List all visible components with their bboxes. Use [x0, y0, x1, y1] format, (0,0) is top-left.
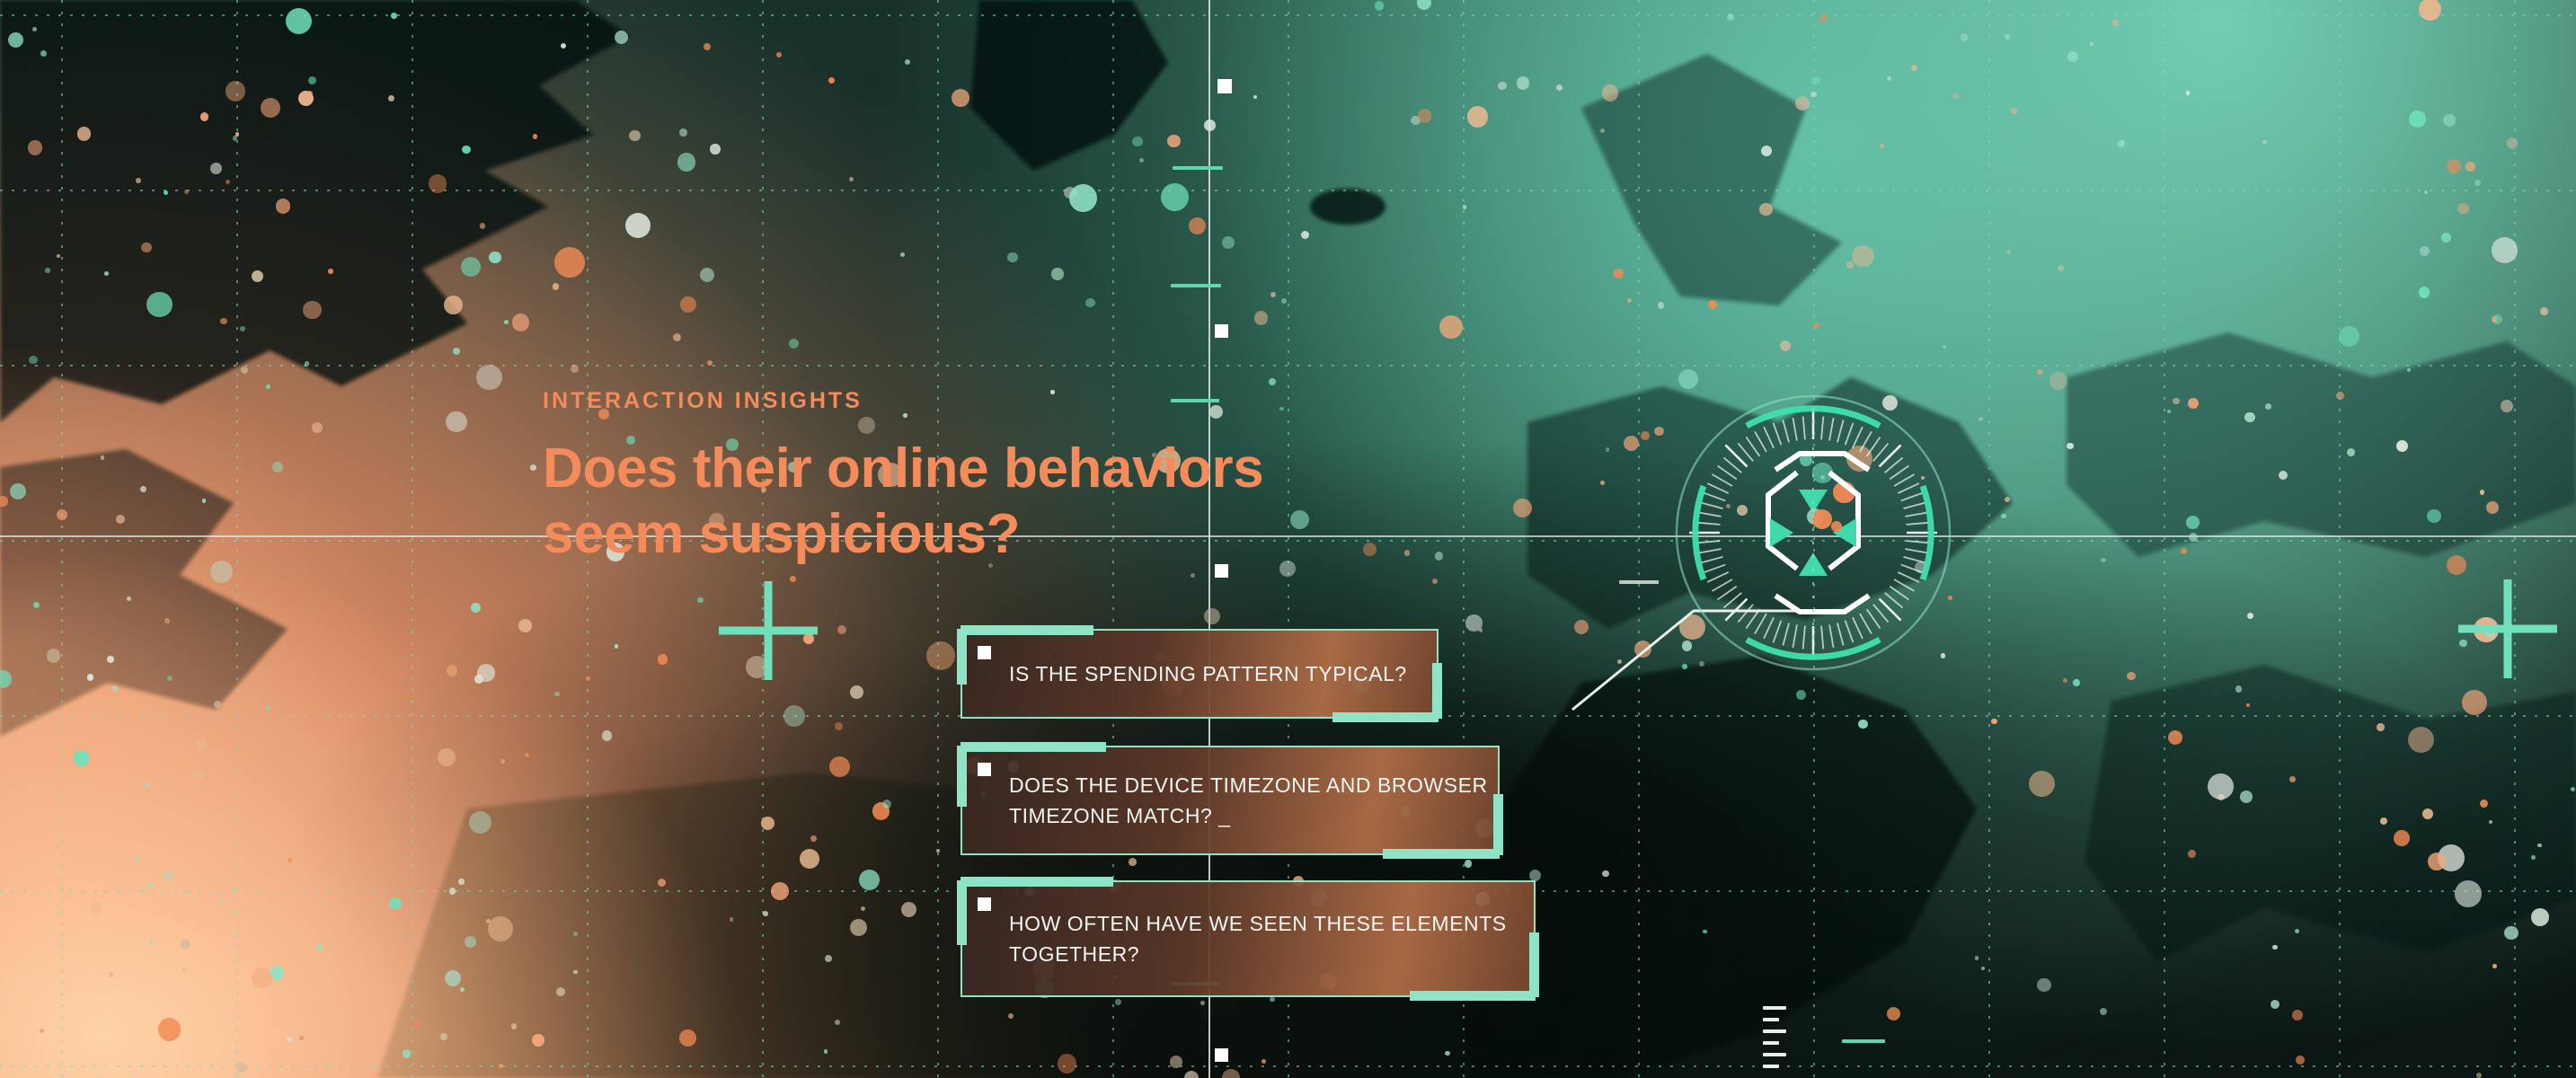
data-point-dot: [74, 750, 89, 765]
data-point-dot: [2188, 850, 2196, 858]
square-marker: [1215, 1048, 1228, 1062]
data-point-dot: [1465, 860, 1473, 868]
data-point-dot: [109, 972, 114, 977]
data-point-dot: [158, 1018, 181, 1041]
data-point-dot: [87, 674, 94, 681]
data-point-dot: [45, 268, 49, 272]
data-point-dot: [1253, 95, 1257, 99]
data-point-dot: [1204, 608, 1220, 624]
data-point-dot: [1811, 76, 1819, 84]
card-square-marker: [978, 763, 991, 776]
data-point-dot: [197, 739, 208, 750]
data-point-dot: [900, 252, 905, 257]
card-label: IS THE SPENDING PATTERN TYPICAL?: [962, 658, 1407, 689]
data-point-dot: [226, 81, 245, 101]
data-point-dot: [2265, 403, 2271, 410]
data-point-dot: [1129, 858, 1137, 866]
data-point-dot: [412, 1021, 420, 1029]
data-point-dot: [127, 596, 131, 601]
data-point-dot: [2457, 203, 2469, 215]
data-point-dot: [286, 8, 312, 34]
data-point-dot: [1600, 481, 1605, 485]
data-point-dot: [1498, 82, 1507, 91]
radar-reticle-icon: [1660, 380, 1966, 685]
crosshair-icon: [719, 581, 818, 680]
data-point-dot: [2101, 558, 2105, 562]
data-point-dot: [1435, 552, 1444, 561]
data-point-dot: [40, 50, 47, 57]
data-point-dot: [697, 597, 703, 603]
data-point-dot: [573, 970, 577, 974]
data-point-dot: [1445, 1051, 1449, 1056]
data-point-dot: [1139, 158, 1144, 163]
data-point-dot: [77, 127, 92, 141]
data-point-dot: [783, 705, 805, 727]
headline-line-1: Does their online behaviors: [543, 436, 1263, 501]
data-point-dot: [1007, 252, 1017, 262]
data-point-dot: [615, 31, 628, 44]
data-point-dot: [164, 618, 169, 623]
data-point-dot: [107, 656, 114, 663]
data-point-dot: [1517, 76, 1529, 89]
data-point-dot: [1600, 128, 1605, 133]
data-point-dot: [1641, 431, 1650, 440]
data-point-dot: [679, 1029, 696, 1047]
data-point-dot: [1432, 579, 1438, 584]
data-point-dot: [2073, 679, 2079, 685]
data-point-dot: [388, 95, 394, 102]
data-point-dot: [602, 730, 612, 740]
data-point-dot: [2480, 490, 2484, 494]
data-point-dot: [28, 140, 42, 155]
crosshair-icon: [2458, 579, 2557, 678]
data-point-dot: [511, 1023, 517, 1029]
data-point-dot: [2428, 853, 2446, 870]
data-point-dot: [2419, 287, 2430, 297]
data-point-dot: [486, 919, 491, 923]
data-point-dot: [554, 247, 585, 278]
data-point-dot: [477, 664, 495, 682]
data-point-dot: [2167, 410, 2171, 413]
data-point-dot: [2476, 1073, 2482, 1078]
data-point-dot: [2394, 830, 2410, 846]
data-point-dot: [1727, 13, 1734, 21]
data-point-dot: [1513, 499, 1532, 517]
data-point-dot: [2465, 162, 2475, 172]
data-point-dot: [104, 271, 109, 276]
data-point-dot: [218, 898, 222, 902]
data-point-dot: [2279, 471, 2288, 480]
data-point-dot: [2186, 516, 2200, 529]
data-point-dot: [828, 77, 835, 84]
data-point-dot: [2427, 509, 2441, 524]
data-point-dot: [1069, 184, 1097, 212]
data-point-dot: [829, 756, 850, 777]
data-point-dot: [1281, 298, 1287, 304]
data-point-dot: [261, 98, 280, 118]
data-point-dot: [2396, 440, 2408, 452]
card-label: DOES THE DEVICE TIMEZONE AND BROWSER TIM…: [962, 770, 1498, 831]
data-point-dot: [303, 301, 322, 320]
data-point-dot: [146, 292, 172, 317]
data-point-dot: [438, 748, 455, 765]
data-point-dot: [2492, 316, 2498, 323]
data-point-dot: [810, 835, 817, 842]
data-point-dot: [312, 422, 323, 433]
data-point-dot: [440, 1033, 447, 1040]
data-point-dot: [2531, 855, 2536, 860]
tick-dash: [1842, 1039, 1885, 1043]
data-point-dot: [476, 365, 502, 391]
data-point-dot: [200, 112, 208, 120]
headline-block: INTERACTION INSIGHTS Does their online b…: [543, 388, 1263, 567]
data-point-dot: [704, 43, 711, 50]
data-point-dot: [462, 146, 470, 154]
data-point-dot: [2462, 690, 2487, 715]
data-point-dot: [1852, 245, 1874, 268]
data-point-dot: [2005, 497, 2010, 502]
data-point-dot: [1375, 1, 1385, 11]
data-point-dot: [499, 1064, 503, 1068]
data-point-dot: [460, 987, 465, 992]
data-point-dot: [40, 1029, 44, 1033]
data-point-dot: [1132, 137, 1143, 147]
data-point-dot: [2540, 307, 2548, 315]
data-point-dot: [1279, 561, 1296, 577]
data-point-dot: [1613, 269, 1623, 278]
data-point-dot: [1975, 956, 1979, 960]
data-point-dot: [288, 858, 292, 862]
data-point-dot: [1161, 183, 1189, 211]
data-point-dot: [2347, 448, 2355, 456]
data-point-dot: [926, 641, 955, 670]
data-point-dot: [147, 883, 153, 888]
data-point-dot: [710, 144, 721, 155]
data-point-dot: [824, 1049, 828, 1053]
data-point-dot: [240, 326, 245, 331]
data-point-dot: [469, 811, 491, 834]
card-elements-together[interactable]: HOW OFTEN HAVE WE SEEN THESE ELEMENTS TO…: [960, 880, 1536, 997]
data-point-dot: [480, 223, 486, 229]
data-point-dot: [2492, 237, 2518, 263]
data-point-dot: [2537, 844, 2542, 848]
data-point-dot: [571, 365, 579, 373]
data-point-dot: [453, 348, 460, 355]
data-point-dot: [707, 360, 713, 366]
data-point-dot: [763, 911, 768, 916]
data-point-dot: [2235, 685, 2242, 692]
data-point-dot: [29, 356, 37, 364]
data-point-dot: [1911, 65, 1917, 71]
data-point-dot: [2422, 808, 2433, 819]
data-point-dot: [586, 676, 589, 680]
data-point-dot: [164, 871, 173, 881]
data-point-dot: [1301, 231, 1309, 239]
data-point-dot: [1051, 268, 1063, 279]
data-point-dot: [328, 269, 333, 274]
data-point-dot: [1952, 93, 1959, 100]
data-point-dot: [2443, 114, 2456, 127]
data-point-dot: [1170, 1056, 1182, 1068]
data-point-dot: [202, 499, 206, 502]
data-point-dot: [2247, 613, 2253, 619]
data-point-dot: [1624, 436, 1639, 451]
data-point-dot: [447, 665, 458, 676]
data-point-dot: [446, 411, 467, 433]
data-point-dot: [489, 252, 501, 264]
data-point-dot: [825, 955, 832, 962]
data-point-dot: [1810, 92, 1816, 97]
eyebrow-label: INTERACTION INSIGHTS: [543, 388, 1263, 414]
data-point-dot: [136, 178, 141, 183]
data-point-dot: [525, 753, 529, 757]
data-point-dot: [192, 769, 204, 781]
data-point-dot: [861, 906, 865, 911]
data-point-dot: [1290, 510, 1309, 529]
data-point-dot: [1880, 144, 1884, 148]
data-point-dot: [2067, 443, 2074, 450]
data-point-dot: [2006, 250, 2011, 254]
data-point-dot: [1703, 930, 1706, 933]
data-point-dot: [1085, 298, 1095, 308]
square-marker: [1215, 324, 1228, 338]
page-title: Does their online behaviors seem suspici…: [543, 436, 1263, 567]
data-point-dot: [2049, 372, 2067, 390]
data-point-dot: [91, 902, 102, 914]
card-square-marker: [978, 646, 991, 659]
data-point-dot: [1887, 1007, 1900, 1021]
data-point-dot: [1115, 999, 1121, 1005]
data-point-dot: [2208, 773, 2234, 800]
data-point-dot: [835, 722, 843, 730]
data-point-dot: [2005, 34, 2010, 40]
data-point-dot: [2377, 723, 2385, 731]
data-point-dot: [2504, 926, 2518, 940]
data-point-dot: [403, 1049, 411, 1057]
data-point-dot: [184, 190, 189, 194]
data-point-dot: [116, 515, 125, 524]
data-point-dot: [530, 464, 537, 472]
scale-ruler-icon: [1763, 1006, 1786, 1076]
data-point-dot: [1602, 870, 1608, 877]
data-point-dot: [2492, 964, 2497, 968]
data-point-dot: [2409, 110, 2426, 128]
data-point-dot: [101, 455, 104, 459]
data-point-dot: [2127, 672, 2135, 680]
data-point-dot: [2289, 776, 2296, 782]
data-point-dot: [504, 320, 509, 324]
data-point-dot: [2063, 678, 2067, 683]
data-point-dot: [167, 676, 173, 681]
data-point-dot: [1556, 84, 1562, 91]
data-point-dot: [135, 857, 139, 862]
data-point-dot: [210, 163, 222, 174]
data-point-dot: [266, 384, 270, 389]
data-point-dot: [2244, 412, 2254, 422]
data-point-dot: [1279, 407, 1283, 411]
data-point-dot: [1606, 447, 1610, 452]
data-point-dot: [629, 130, 641, 142]
data-point-dot: [57, 254, 60, 258]
data-point-dot: [308, 76, 316, 84]
data-point-dot: [429, 174, 447, 193]
data-point-dot: [2118, 140, 2125, 147]
data-point-dot: [556, 987, 565, 996]
data-point-dot: [800, 849, 819, 869]
data-point-dot: [680, 296, 696, 313]
scene-root: INTERACTION INSIGHTS Does their online b…: [0, 0, 2576, 1078]
data-point-dot: [1858, 720, 1867, 729]
data-point-dot: [141, 243, 151, 252]
data-point-dot: [1254, 311, 1269, 325]
data-point-dot: [1363, 543, 1377, 556]
data-point-dot: [1058, 1054, 1077, 1074]
data-point-dot: [677, 153, 695, 171]
data-point-dot: [112, 685, 119, 692]
data-point-dot: [1602, 84, 1618, 101]
card-timezone-match[interactable]: DOES THE DEVICE TIMEZONE AND BROWSER TIM…: [960, 746, 1500, 855]
data-point-dot: [1184, 1071, 1199, 1078]
data-point-dot: [1417, 0, 1431, 10]
data-point-dot: [730, 917, 734, 922]
data-point-dot: [1658, 302, 1664, 308]
card-spending-pattern[interactable]: IS THE SPENDING PATTERN TYPICAL?: [960, 629, 1438, 719]
data-point-dot: [2037, 978, 2050, 992]
tick-dash: [1171, 284, 1221, 287]
data-point-dot: [140, 486, 146, 492]
data-point-dot: [47, 649, 60, 662]
data-point-dot: [226, 180, 230, 184]
data-point-dot: [1167, 135, 1180, 147]
data-point-dot: [305, 361, 310, 367]
data-point-dot: [658, 654, 668, 665]
data-point-dot: [33, 602, 40, 608]
data-point-dot: [1708, 300, 1717, 309]
data-point-dot: [679, 128, 687, 137]
card-square-marker: [978, 897, 991, 911]
data-point-dot: [57, 509, 67, 520]
square-marker: [1217, 79, 1232, 93]
data-point-dot: [2339, 326, 2359, 347]
data-point-dot: [658, 879, 666, 887]
data-point-dot: [1479, 628, 1483, 632]
data-point-dot: [771, 882, 789, 900]
data-point-dot: [1270, 292, 1276, 297]
data-point-dot: [936, 849, 940, 853]
card-label: HOW OFTEN HAVE WE SEEN THESE ELEMENTS TO…: [962, 908, 1534, 969]
data-point-dot: [2001, 514, 2006, 519]
data-point-dot: [1761, 146, 1772, 156]
data-point-dot: [553, 283, 560, 290]
data-point-dot: [2480, 800, 2488, 808]
data-point-dot: [533, 134, 537, 138]
data-point-dot: [1819, 14, 1827, 22]
headline-line-2: seem suspicious?: [543, 501, 1263, 567]
data-point-dot: [882, 800, 891, 808]
tick-dash: [1173, 166, 1223, 170]
data-point-dot: [2380, 817, 2387, 825]
data-point-dot: [488, 916, 513, 941]
data-point-dot: [220, 318, 226, 324]
data-point-dot: [465, 936, 476, 948]
data-point-dot: [2272, 945, 2278, 950]
data-point-dot: [252, 270, 263, 282]
